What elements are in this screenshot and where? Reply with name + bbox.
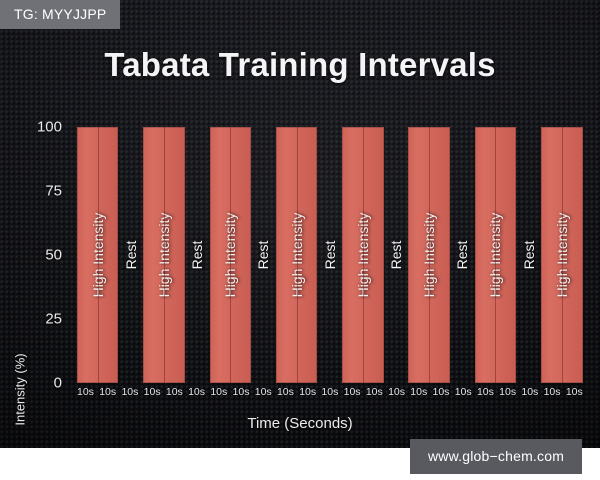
gap-slot-rest-6: Rest (450, 127, 475, 383)
bar-slot-high-5: High Intensity (342, 127, 383, 383)
x-axis-tick: 10s (77, 386, 94, 398)
bar-slot-high-1: High Intensity (77, 127, 118, 383)
bar-label: High Intensity (355, 213, 371, 298)
bar-slot-high-7: High Intensity (475, 127, 516, 383)
x-axis-tick: 10s (121, 386, 138, 398)
bar-high-intensity: High Intensity (541, 127, 583, 383)
x-axis-tick: 10s (388, 386, 405, 398)
x-axis-tick: 10s (255, 386, 272, 398)
chart-image: Tabata Training Intervals 100 75 50 25 0… (0, 0, 600, 448)
gap-label: Rest (255, 241, 271, 270)
bar-high-intensity: High Intensity (143, 127, 184, 383)
plot-area: High Intensity Rest High Intensity Rest (77, 127, 583, 383)
x-axis-tick: 10s (366, 386, 383, 398)
x-axis-tick: 10s (188, 386, 205, 398)
x-axis-tick: 10s (410, 386, 427, 398)
x-axis-label: Time (Seconds) (0, 415, 600, 432)
bar-label: High Intensity (222, 213, 238, 298)
bar-label: High Intensity (289, 213, 305, 298)
y-axis-tick: 75 (45, 183, 62, 200)
page-root: Tabata Training Intervals 100 75 50 25 0… (0, 0, 600, 480)
gap-label: Rest (123, 241, 139, 270)
gap-label: Rest (454, 241, 470, 270)
gap-label: Rest (322, 241, 338, 270)
bar-high-intensity: High Intensity (342, 127, 383, 383)
x-axis-tick: 10s (544, 386, 561, 398)
bar-slot-high-3: High Intensity (210, 127, 251, 383)
chart-title: Tabata Training Intervals (0, 46, 600, 84)
watermark-top-left: TG: MYYJJPP (0, 0, 120, 29)
bar-label: High Intensity (90, 213, 106, 298)
x-axis-tick: 10s (166, 386, 183, 398)
gap-slot-rest-1: Rest (118, 127, 143, 383)
x-axis-tick: 10s (433, 386, 450, 398)
gap-slot-rest-4: Rest (317, 127, 342, 383)
bar-slot-high-4: High Intensity (276, 127, 317, 383)
y-axis-tick: 50 (45, 247, 62, 264)
gap-slot-rest-5: Rest (384, 127, 409, 383)
y-axis-ticks: 100 75 50 25 0 Intensity (%) (0, 127, 70, 383)
bar-slot-high-6: High Intensity (408, 127, 449, 383)
bar-label: High Intensity (156, 213, 172, 298)
x-axis-tick: 10s (344, 386, 361, 398)
bar-high-intensity: High Intensity (210, 127, 251, 383)
x-axis-tick: 10s (233, 386, 250, 398)
bar-high-intensity: High Intensity (408, 127, 449, 383)
x-axis-tick: 10s (566, 386, 583, 398)
x-axis-tick: 10s (299, 386, 316, 398)
x-axis-tick: 10s (277, 386, 294, 398)
x-axis-tick: 10s (321, 386, 338, 398)
x-axis-tick: 10s (144, 386, 161, 398)
x-axis-tick: 10s (210, 386, 227, 398)
gap-slot-rest-2: Rest (185, 127, 210, 383)
bar-high-intensity: High Intensity (77, 127, 118, 383)
y-axis-tick: 25 (45, 311, 62, 328)
gap-slot-rest-7: Rest (516, 127, 541, 383)
bars-container: High Intensity Rest High Intensity Rest (77, 127, 583, 383)
y-axis-tick: 100 (37, 119, 62, 136)
x-axis-tick: 10s (99, 386, 116, 398)
bar-slot-high-8: High Intensity (541, 127, 583, 383)
x-axis-tick: 10s (477, 386, 494, 398)
bar-label: High Intensity (554, 213, 570, 298)
watermark-bottom-right: www.glob−chem.com (410, 439, 582, 474)
bar-label: High Intensity (421, 213, 437, 298)
bar-high-intensity: High Intensity (475, 127, 516, 383)
bar-high-intensity: High Intensity (276, 127, 317, 383)
bar-label: High Intensity (487, 213, 503, 298)
gap-label: Rest (388, 241, 404, 270)
x-axis-tick: 10s (499, 386, 516, 398)
bar-slot-high-2: High Intensity (143, 127, 184, 383)
x-axis-ticks: 10s 10s 10s 10s 10s 10s 10s 10s 10s 10s … (77, 386, 583, 398)
x-axis-tick: 10s (521, 386, 538, 398)
gap-label: Rest (521, 241, 537, 270)
y-axis-tick: 0 (54, 375, 62, 392)
gap-slot-rest-3: Rest (251, 127, 276, 383)
gap-label: Rest (189, 241, 205, 270)
x-axis-tick: 10s (455, 386, 472, 398)
